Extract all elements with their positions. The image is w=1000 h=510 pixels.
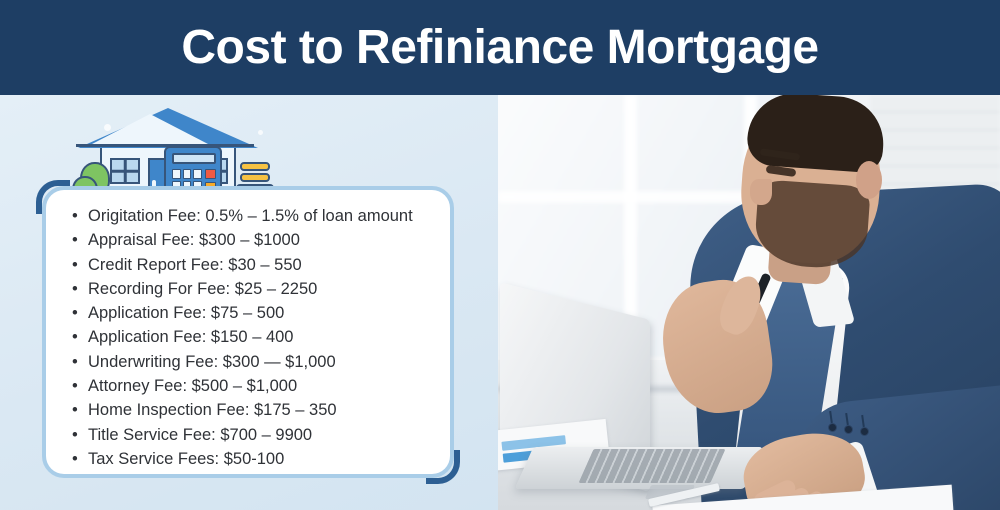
card-surface: Origitation Fee: 0.5% – 1.5% of loan amo… (46, 190, 450, 474)
list-item: Credit Report Fee: $30 – 550 (72, 253, 440, 277)
window-icon (110, 158, 140, 184)
sparkle-icon (258, 130, 263, 135)
laptop-keyboard (578, 449, 725, 483)
list-item: Title Service Fee: $700 – 9900 (72, 423, 440, 447)
calculator-red-key (205, 169, 216, 179)
infographic-root: Cost to Refiniance Mortgage (0, 0, 1000, 510)
fee-list: Origitation Fee: 0.5% – 1.5% of loan amo… (46, 190, 450, 471)
list-item: Tax Service Fees: $50-100 (72, 447, 440, 471)
businessman-at-laptop-photo (498, 95, 1000, 510)
left-content-panel: Origitation Fee: 0.5% – 1.5% of loan amo… (0, 95, 498, 510)
list-item: Appraisal Fee: $300 – $1000 (72, 228, 440, 252)
jacket-button (844, 425, 853, 434)
coin-icon (240, 173, 270, 182)
list-item: Recording For Fee: $25 – 2250 (72, 277, 440, 301)
fee-list-card: Origitation Fee: 0.5% – 1.5% of loan amo… (42, 186, 454, 478)
list-item: Application Fee: $75 – 500 (72, 301, 440, 325)
coin-icon (240, 162, 270, 171)
page-title: Cost to Refiniance Mortgage (181, 24, 818, 72)
roof-inner-shape (92, 114, 208, 144)
man-ear (856, 161, 882, 199)
list-item: Origitation Fee: 0.5% – 1.5% of loan amo… (72, 204, 440, 228)
calculator-key (193, 169, 202, 179)
list-item: Attorney Fee: $500 – $1,000 (72, 374, 440, 398)
calculator-key (183, 169, 192, 179)
jacket-button (828, 423, 837, 432)
header-bar: Cost to Refiniance Mortgage (0, 0, 1000, 95)
calculator-screen (172, 153, 216, 164)
man-nose (750, 179, 772, 205)
list-item: Application Fee: $150 – 400 (72, 325, 440, 349)
list-item: Underwriting Fee: $300 — $1,000 (72, 350, 440, 374)
list-item: Home Inspection Fee: $175 – 350 (72, 398, 440, 422)
jacket-button (860, 427, 869, 436)
calculator-key (172, 169, 181, 179)
